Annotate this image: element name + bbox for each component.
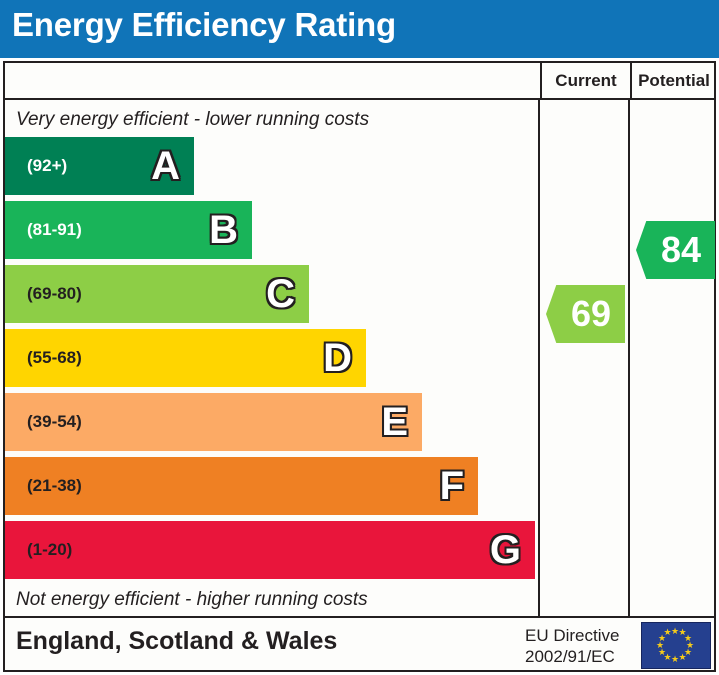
rating-marker-potential: 84 bbox=[636, 221, 715, 279]
rating-value-current: 69 bbox=[571, 296, 611, 332]
footer-directive-line2: 2002/91/EC bbox=[525, 646, 619, 667]
footer-region-label: England, Scotland & Wales bbox=[16, 627, 337, 656]
epc-certificate: Energy Efficiency Rating Current Potenti… bbox=[0, 0, 719, 675]
rating-band-f: (21-38)F bbox=[5, 457, 478, 515]
band-letter-e: E bbox=[381, 402, 408, 442]
caption-not-efficient: Not energy efficient - higher running co… bbox=[16, 589, 368, 611]
band-letter-g: G bbox=[490, 530, 521, 570]
band-range-d: (55-68) bbox=[27, 348, 82, 368]
footer-directive: EU Directive 2002/91/EC bbox=[525, 625, 619, 668]
column-divider-potential bbox=[628, 100, 630, 616]
footer-divider bbox=[3, 616, 716, 618]
band-letter-b: B bbox=[209, 210, 238, 250]
rating-band-b: (81-91)B bbox=[5, 201, 252, 259]
band-range-g: (1-20) bbox=[27, 540, 72, 560]
column-header-row: Current Potential bbox=[3, 61, 716, 100]
footer-directive-line1: EU Directive bbox=[525, 625, 619, 646]
rating-band-c: (69-80)C bbox=[5, 265, 309, 323]
band-range-c: (69-80) bbox=[27, 284, 82, 304]
column-divider-current bbox=[538, 100, 540, 616]
caption-very-efficient: Very energy efficient - lower running co… bbox=[16, 109, 369, 131]
rating-band-g: (1-20)G bbox=[5, 521, 535, 579]
band-letter-a: A bbox=[151, 146, 180, 186]
band-range-f: (21-38) bbox=[27, 476, 82, 496]
column-header-potential: Potential bbox=[630, 63, 716, 98]
rating-marker-current: 69 bbox=[546, 285, 625, 343]
column-header-current: Current bbox=[540, 63, 630, 98]
title-bar: Energy Efficiency Rating bbox=[0, 0, 719, 58]
rating-band-a: (92+)A bbox=[5, 137, 194, 195]
band-letter-c: C bbox=[266, 274, 295, 314]
eu-flag-icon: ★★★★★★★★★★★★ bbox=[641, 622, 711, 669]
rating-value-potential: 84 bbox=[661, 232, 701, 268]
band-range-e: (39-54) bbox=[27, 412, 82, 432]
rating-band-d: (55-68)D bbox=[5, 329, 366, 387]
band-range-a: (92+) bbox=[27, 156, 67, 176]
rating-band-e: (39-54)E bbox=[5, 393, 422, 451]
eu-star-icon: ★ bbox=[663, 628, 672, 637]
page-title: Energy Efficiency Rating bbox=[12, 6, 396, 44]
band-letter-f: F bbox=[440, 466, 464, 506]
band-letter-d: D bbox=[323, 338, 352, 378]
band-range-b: (81-91) bbox=[27, 220, 82, 240]
